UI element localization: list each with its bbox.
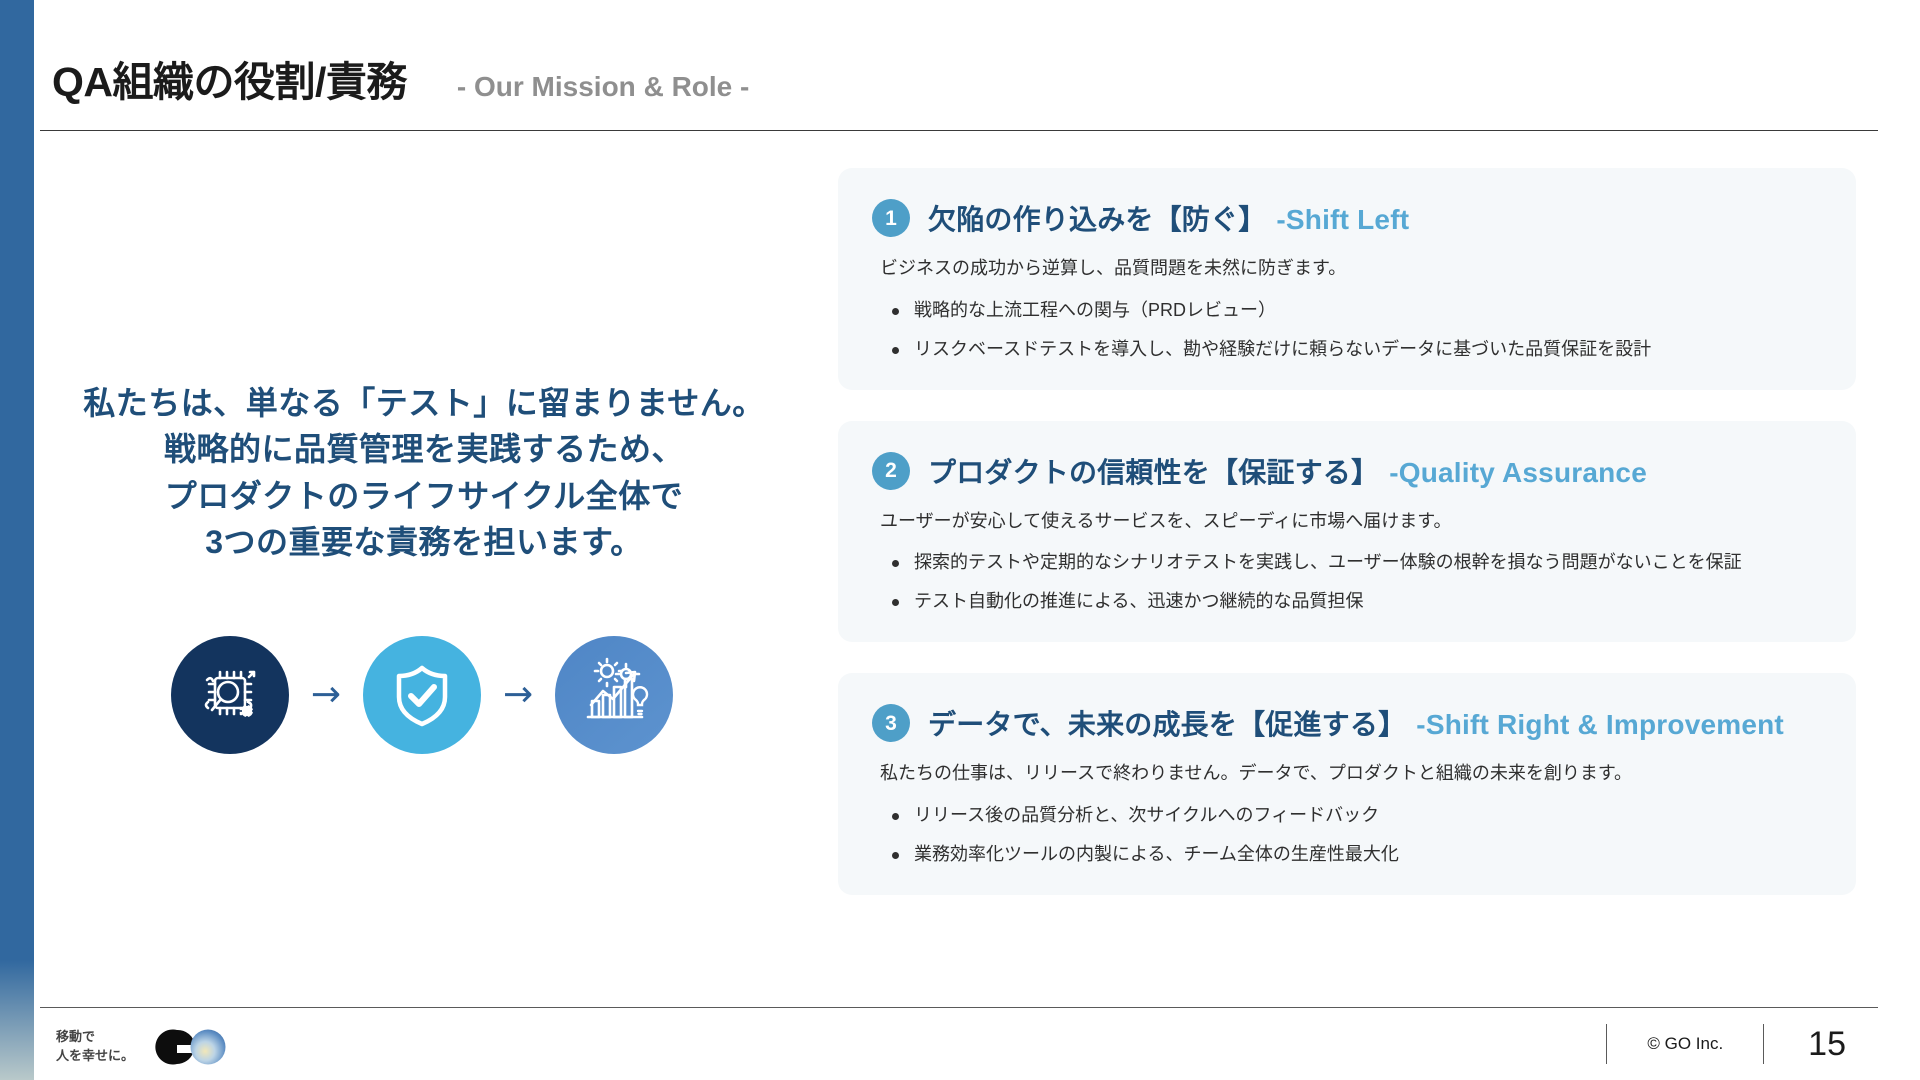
card-1-bullets: 戦略的な上流工程への関与（PRDレビュー） リスクベースドテストを導入し、勘や経… [872,297,1822,364]
growth-chart-icon [555,636,673,754]
slide-header: QA組織の役割/責務 - Our Mission & Role - [34,0,1920,132]
card-1-header: 1 欠陥の作り込みを【防ぐ】-Shift Left [872,198,1822,238]
card-2-title: プロダクトの信頼性を【保証する】-Quality Assurance [928,451,1647,491]
card-3-bullet-1: リリース後の品質分析と、次サイクルへのフィードバック [880,802,1822,830]
lead-line-2: 戦略的に品質管理を実践するため、 [34,426,814,472]
card-2-header: 2 プロダクトの信頼性を【保証する】-Quality Assurance [872,451,1822,491]
card-2-title-en: -Quality Assurance [1389,457,1647,488]
card-1: 1 欠陥の作り込みを【防ぐ】-Shift Left ビジネスの成功から逆算し、品… [838,168,1856,390]
card-1-title: 欠陥の作り込みを【防ぐ】-Shift Left [928,198,1409,238]
lead-line-1: 私たちは、単なる「テスト」に留まりません。 [34,380,814,426]
flow-arrow-1: → [311,677,341,713]
card-3-bullets: リリース後の品質分析と、次サイクルへのフィードバック 業務効率化ツールの内製によ… [872,802,1822,869]
card-1-title-en: -Shift Left [1276,204,1409,235]
card-3-title-ja: データで、未来の成長を【促進する】 [928,709,1406,740]
accent-bar-gradient [0,960,34,1080]
card-2-bullet-1: 探索的テストや定期的なシナリオテストを実践し、ユーザー体験の根幹を損なう問題がな… [880,549,1822,577]
lead-line-3: プロダクトのライフサイクル全体で [34,473,814,519]
card-3-number-badge: 3 [872,704,910,742]
lead-statement: 私たちは、単なる「テスト」に留まりません。 戦略的に品質管理を実践するため、 プ… [34,380,814,566]
card-3-title: データで、未来の成長を【促進する】-Shift Right & Improvem… [928,703,1784,743]
shield-check-icon [363,636,481,754]
left-column: 私たちは、単なる「テスト」に留まりません。 戦略的に品質管理を実践するため、 プ… [34,150,814,990]
card-1-bullet-2: リスクベースドテストを導入し、勘や経験だけに頼らないデータに基づいた品質保証を設… [880,336,1822,364]
title-row: QA組織の役割/責務 - Our Mission & Role - [52,48,749,108]
card-3-header: 3 データで、未来の成長を【促進する】-Shift Right & Improv… [872,703,1822,743]
icon-flow-diagram: → → [102,630,742,760]
header-divider [40,130,1878,131]
flow-arrow-2: → [503,677,533,713]
bug-detection-icon [171,636,289,754]
footer-meta: © GO Inc. 15 [1606,1022,1874,1066]
card-3-description: 私たちの仕事は、リリースで終わりません。データで、プロダクトと組織の未来を創りま… [880,759,1822,788]
card-3-bullet-2: 業務効率化ツールの内製による、チーム全体の生産性最大化 [880,841,1822,869]
card-2-number-badge: 2 [872,452,910,490]
card-1-description: ビジネスの成功から逆算し、品質問題を未然に防ぎます。 [880,254,1822,283]
card-2-bullet-2: テスト自動化の推進による、迅速かつ継続的な品質担保 [880,588,1822,616]
card-3-title-en: -Shift Right & Improvement [1416,709,1784,740]
page-number: 15 [1764,1025,1874,1064]
brand-tagline: 移動で 人を幸せに。 [56,1028,134,1066]
card-2-bullets: 探索的テストや定期的なシナリオテストを実践し、ユーザー体験の根幹を損なう問題がな… [872,549,1822,616]
slide: QA組織の役割/責務 - Our Mission & Role - 私たちは、単… [0,0,1920,1080]
brand-lockup: 移動で 人を幸せに。 [56,1024,234,1070]
responsibility-cards: 1 欠陥の作り込みを【防ぐ】-Shift Left ビジネスの成功から逆算し、品… [838,168,1856,895]
slide-footer: 移動で 人を幸せに。 [34,1008,1920,1080]
page-subtitle: - Our Mission & Role - [457,71,749,103]
card-2-title-ja: プロダクトの信頼性を【保証する】 [928,457,1379,488]
left-accent-bar [0,0,34,1080]
card-1-title-ja: 欠陥の作り込みを【防ぐ】 [928,204,1266,235]
copyright-text: © GO Inc. [1607,1034,1763,1054]
go-logo-icon [150,1024,234,1070]
card-1-bullet-1: 戦略的な上流工程への関与（PRDレビュー） [880,297,1822,325]
brand-tagline-line2: 人を幸せに。 [56,1047,134,1066]
page-title: QA組織の役割/責務 [52,48,407,108]
card-1-number-badge: 1 [872,199,910,237]
card-2-description: ユーザーが安心して使えるサービスを、スピーディに市場へ届けます。 [880,507,1822,536]
card-2: 2 プロダクトの信頼性を【保証する】-Quality Assurance ユーザ… [838,421,1856,643]
card-3: 3 データで、未来の成長を【促進する】-Shift Right & Improv… [838,673,1856,895]
lead-line-4: 3つの重要な責務を担います。 [34,519,814,565]
brand-tagline-line1: 移動で [56,1028,134,1047]
